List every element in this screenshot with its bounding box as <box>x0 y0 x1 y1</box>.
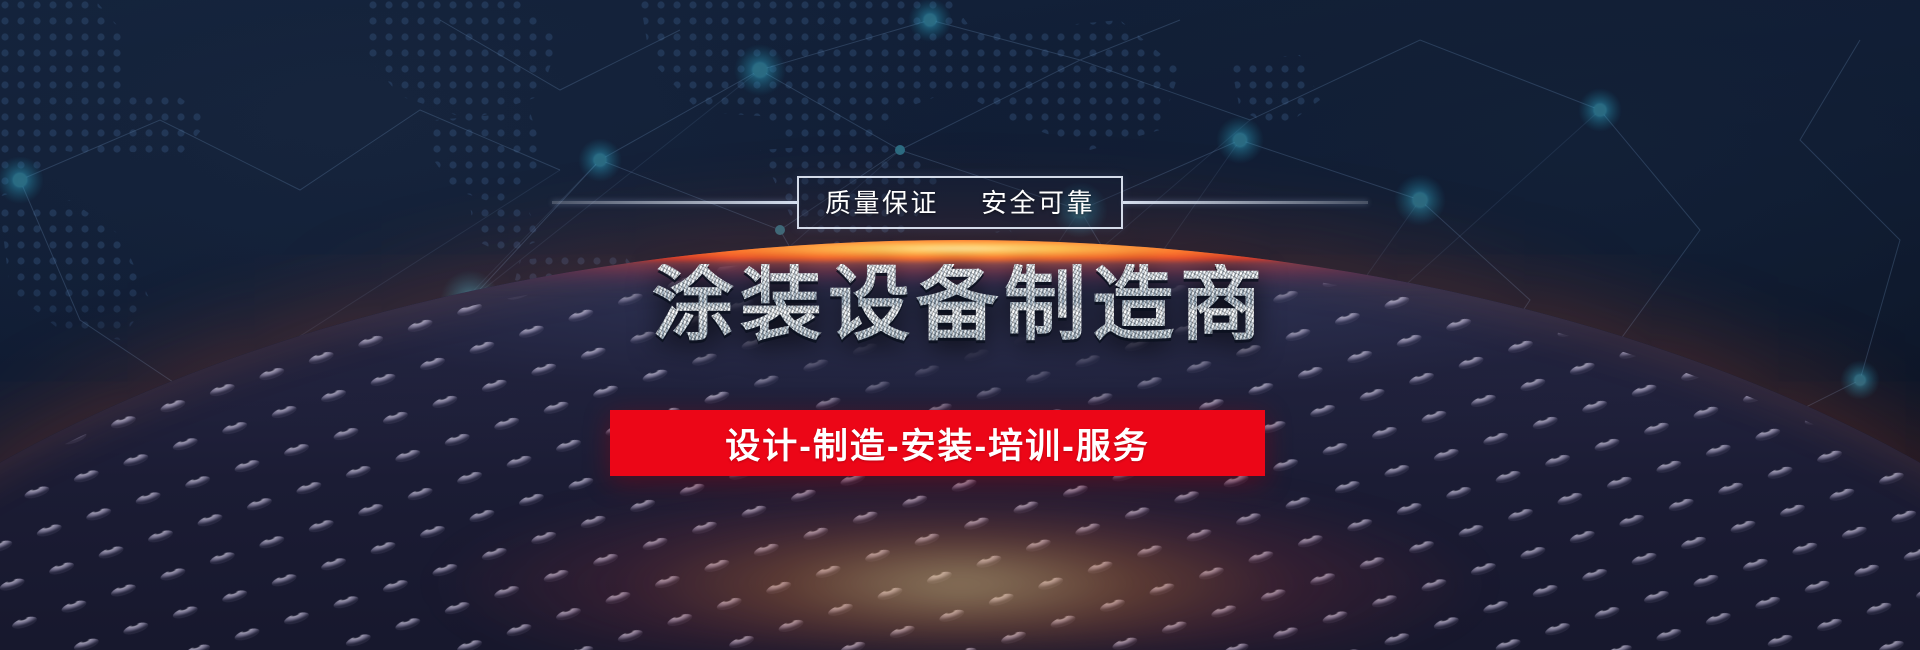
services-bar: 设计-制造-安装-培训-服务 <box>610 410 1265 476</box>
tagline-rule-right <box>1123 201 1368 204</box>
page-title: 涂装设备制造商 <box>0 264 1920 346</box>
tagline-safety: 安全可靠 <box>981 183 1095 220</box>
services-bar-label: 设计-制造-安装-培训-服务 <box>725 418 1150 469</box>
tagline-box: 质量保证 安全可靠 <box>797 176 1123 229</box>
tagline-row: 质量保证 安全可靠 <box>0 176 1920 229</box>
tagline-quality: 质量保证 <box>825 183 939 220</box>
tagline-rule-left <box>552 201 797 204</box>
hero-banner: 质量保证 安全可靠 涂装设备制造商 涂装设备制造商 设计-制造-安装-培训-服务 <box>0 0 1920 650</box>
banner-content: 质量保证 安全可靠 涂装设备制造商 涂装设备制造商 设计-制造-安装-培训-服务 <box>0 0 1920 650</box>
